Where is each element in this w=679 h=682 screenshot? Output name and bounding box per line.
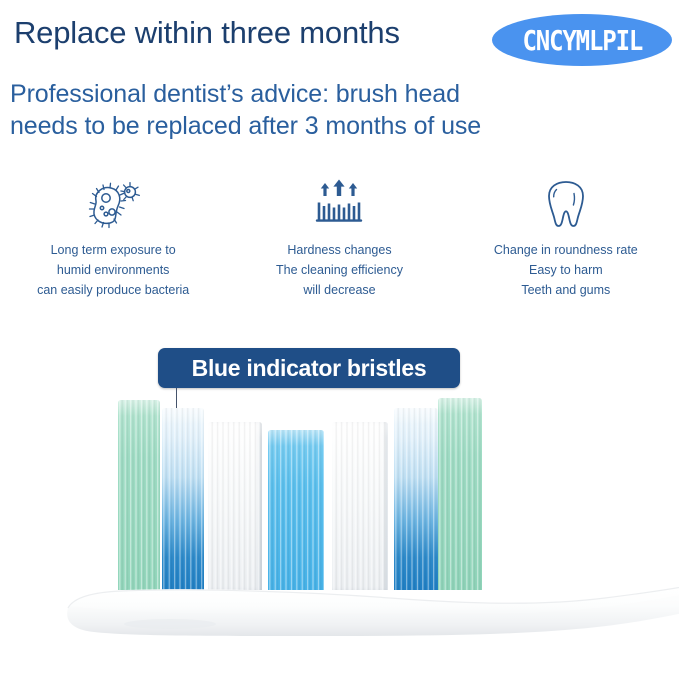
subtitle-line-1: Professional dentist’s advice: brush hea…: [10, 80, 460, 109]
feature-line: will decrease: [276, 280, 403, 300]
feature-text-hardness: Hardness changes The cleaning efficiency…: [276, 240, 403, 300]
tuft-indicator-blue-right: [394, 408, 438, 590]
feature-text-tooth: Change in roundness rate Easy to harm Te…: [494, 240, 638, 300]
feature-line: Change in roundness rate: [494, 240, 638, 260]
page-title: Replace within three months: [14, 8, 400, 58]
feature-line: The cleaning efficiency: [276, 260, 403, 280]
tooth-icon: [543, 178, 589, 230]
feature-line: Teeth and gums: [494, 280, 638, 300]
feature-column-bacteria: Long term exposure to humid environments…: [0, 178, 226, 303]
feature-line: Long term exposure to: [37, 240, 189, 260]
tuft-green-left: [118, 400, 160, 590]
tuft-indicator-blue-left: [162, 408, 204, 590]
headline-row: Replace within three months CNCYMLPIL: [14, 8, 674, 64]
feature-line: can easily produce bacteria: [37, 280, 189, 300]
brand-logo-text: CNCYMLPIL: [522, 24, 642, 56]
bristles-arrows-icon: [313, 178, 365, 230]
callout-label: Blue indicator bristles: [192, 355, 427, 382]
brand-logo-badge: CNCYMLPIL: [492, 14, 672, 66]
bacteria-icon: [84, 178, 142, 230]
toothbrush-head-illustration: [0, 390, 679, 682]
feature-columns: Long term exposure to humid environments…: [0, 178, 679, 303]
tuft-green-right: [438, 398, 482, 590]
feature-column-hardness: Hardness changes The cleaning efficiency…: [226, 178, 452, 303]
feature-text-bacteria: Long term exposure to humid environments…: [37, 240, 189, 300]
brush-head-body: [60, 564, 679, 674]
feature-line: humid environments: [37, 260, 189, 280]
feature-line: Easy to harm: [494, 260, 638, 280]
feature-line: Hardness changes: [276, 240, 403, 260]
callout-banner-blue-indicator: Blue indicator bristles: [158, 348, 460, 388]
feature-column-tooth: Change in roundness rate Easy to harm Te…: [453, 178, 679, 303]
subtitle-line-2: needs to be replaced after 3 months of u…: [10, 112, 481, 141]
